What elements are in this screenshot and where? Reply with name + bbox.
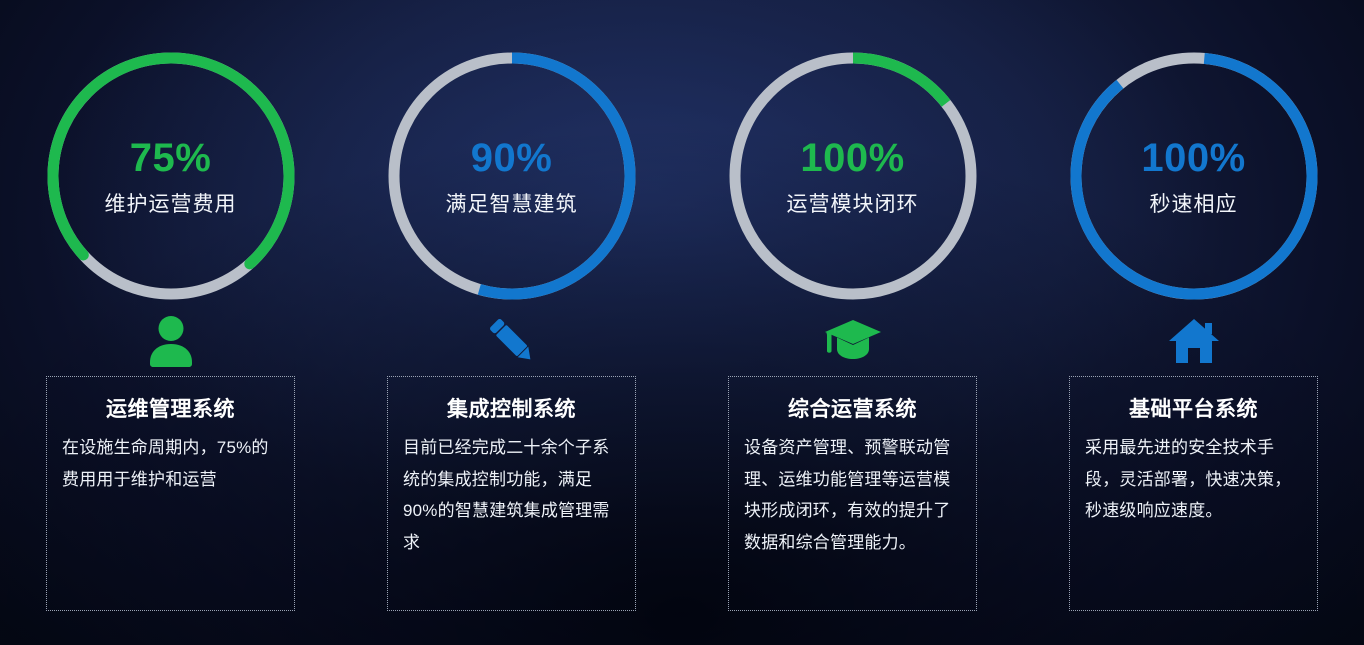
house-icon-svg [1167, 317, 1221, 365]
card-body-2: 目前已经完成二十余个子系统的集成控制功能，满足90%的智慧建筑集成管理需求 [403, 432, 620, 558]
card-title-4: 基础平台系统 [1085, 397, 1302, 422]
user-icon-svg [146, 315, 196, 367]
info-card-1: 运维管理系统 在设施生命周期内，75%的费用用于维护和运营 [46, 376, 295, 611]
graduation-cap-icon [824, 310, 882, 372]
progress-ring-2: 90% 满足智慧建筑 [384, 48, 640, 304]
progress-ring-4: 100% 秒速相应 [1066, 48, 1322, 304]
card-body-3: 设备资产管理、预警联动管理、运维功能管理等运营模块形成闭环，有效的提升了数据和综… [744, 432, 961, 558]
ring-percent-2: 90% [471, 138, 553, 178]
info-card-2: 集成控制系统 目前已经完成二十余个子系统的集成控制功能，满足90%的智慧建筑集成… [387, 376, 636, 611]
ring-center-2: 90% 满足智慧建筑 [384, 48, 640, 304]
ring-center-1: 75% 维护运营费用 [43, 48, 299, 304]
metric-column-2: 90% 满足智慧建筑 集成控制系统 目前已经完成二十余个子系统的集成控制功能，满… [341, 0, 682, 645]
progress-ring-3: 100% 运营模块闭环 [725, 48, 981, 304]
pencil-icon-svg [487, 315, 537, 367]
ring-caption-2: 满足智慧建筑 [446, 194, 578, 215]
user-icon [146, 310, 196, 372]
ring-caption-1: 维护运营费用 [105, 194, 237, 215]
ring-percent-1: 75% [130, 138, 212, 178]
ring-center-4: 100% 秒速相应 [1066, 48, 1322, 304]
ring-caption-3: 运营模块闭环 [787, 194, 919, 215]
metric-column-1: 75% 维护运营费用 运维管理系统 在设施生命周期内，75%的费用用于维护和运营 [0, 0, 341, 645]
info-card-3: 综合运营系统 设备资产管理、预警联动管理、运维功能管理等运营模块形成闭环，有效的… [728, 376, 977, 611]
graduation-cap-icon-svg [824, 318, 882, 364]
metric-column-3: 100% 运营模块闭环 综合运营系统 设备资产管理、预警联动管理、运维功能管理等… [682, 0, 1023, 645]
card-title-2: 集成控制系统 [403, 397, 620, 422]
card-title-3: 综合运营系统 [744, 397, 961, 422]
metric-columns: 75% 维护运营费用 运维管理系统 在设施生命周期内，75%的费用用于维护和运营 [0, 0, 1364, 645]
infographic-slide: 75% 维护运营费用 运维管理系统 在设施生命周期内，75%的费用用于维护和运营 [0, 0, 1364, 645]
card-title-1: 运维管理系统 [62, 397, 279, 422]
info-card-4: 基础平台系统 采用最先进的安全技术手段，灵活部署，快速决策，秒速级响应速度。 [1069, 376, 1318, 611]
ring-percent-3: 100% [800, 138, 904, 178]
metric-column-4: 100% 秒速相应 基础平台系统 采用最先进的安全技术手段，灵活部署，快速决策，… [1023, 0, 1364, 645]
progress-ring-1: 75% 维护运营费用 [43, 48, 299, 304]
ring-caption-4: 秒速相应 [1150, 194, 1238, 215]
card-body-4: 采用最先进的安全技术手段，灵活部署，快速决策，秒速级响应速度。 [1085, 432, 1302, 526]
card-body-1: 在设施生命周期内，75%的费用用于维护和运营 [62, 432, 279, 495]
pencil-icon [487, 310, 537, 372]
ring-percent-4: 100% [1141, 138, 1245, 178]
ring-center-3: 100% 运营模块闭环 [725, 48, 981, 304]
house-icon [1167, 310, 1221, 372]
